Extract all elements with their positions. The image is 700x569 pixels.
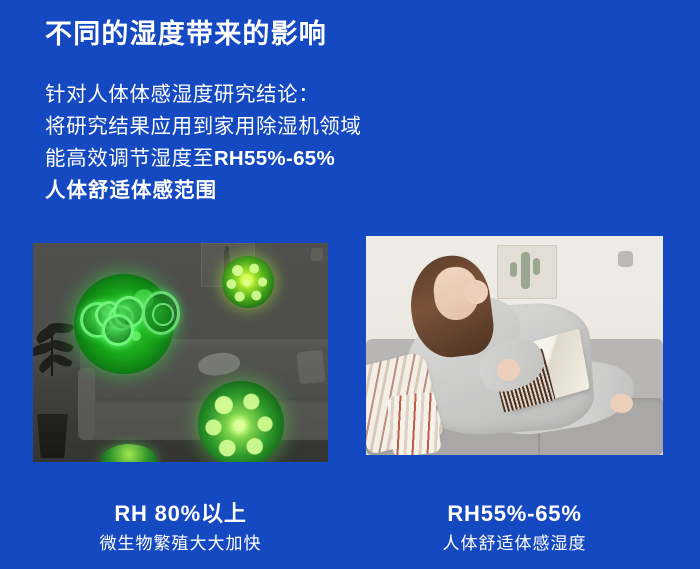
virus-spikes-icon	[222, 256, 274, 308]
caption-high-humidity: RH 80%以上 微生物繁殖大大加快	[33, 500, 328, 556]
body-line-1: 针对人体体感湿度研究结论：	[45, 79, 362, 111]
virus-spikes-icon	[198, 381, 284, 462]
microbe-cell-icon	[113, 296, 145, 328]
body-line-2: 将研究结果应用到家用除湿机领域	[45, 111, 362, 143]
caption-title: RH55%-65%	[366, 500, 663, 528]
body-line-4: 人体舒适体感范围	[45, 175, 362, 207]
dark-room-scene	[33, 243, 328, 462]
scene-shadow-overlay	[33, 243, 328, 462]
light-room-scene	[366, 236, 663, 455]
cactus-icon	[521, 252, 530, 289]
person-hand-shape	[497, 359, 521, 381]
body-line-3: 能高效调节湿度至RH55%-65%	[45, 143, 362, 175]
virus-sphere-icon	[198, 381, 284, 462]
caption-subtitle: 微生物繁殖大大加快	[33, 532, 328, 556]
page-title: 不同的湿度带来的影响	[45, 18, 327, 52]
wall-knob-icon	[618, 251, 633, 267]
body-copy: 针对人体体感湿度研究结论： 将研究结果应用到家用除湿机领域 能高效调节湿度至RH…	[45, 79, 362, 207]
caption-title: RH 80%以上	[33, 500, 328, 528]
patterned-cushion-shape	[386, 391, 441, 455]
caption-subtitle: 人体舒适体感湿度	[366, 532, 663, 556]
body-line-3-highlight: RH55%-65%	[214, 147, 335, 170]
microbe-cell-icon	[102, 314, 134, 346]
photo-high-humidity	[33, 243, 328, 462]
virus-sphere-icon	[222, 256, 274, 308]
humidity-impact-slide: 不同的湿度带来的影响 针对人体体感湿度研究结论： 将研究结果应用到家用除湿机领域…	[0, 0, 700, 569]
cactus-wall-art-icon	[497, 245, 557, 299]
photo-comfort-humidity	[366, 236, 663, 455]
caption-comfort-humidity: RH55%-65% 人体舒适体感湿度	[366, 500, 663, 556]
body-line-3-prefix: 能高效调节湿度至	[45, 147, 214, 170]
